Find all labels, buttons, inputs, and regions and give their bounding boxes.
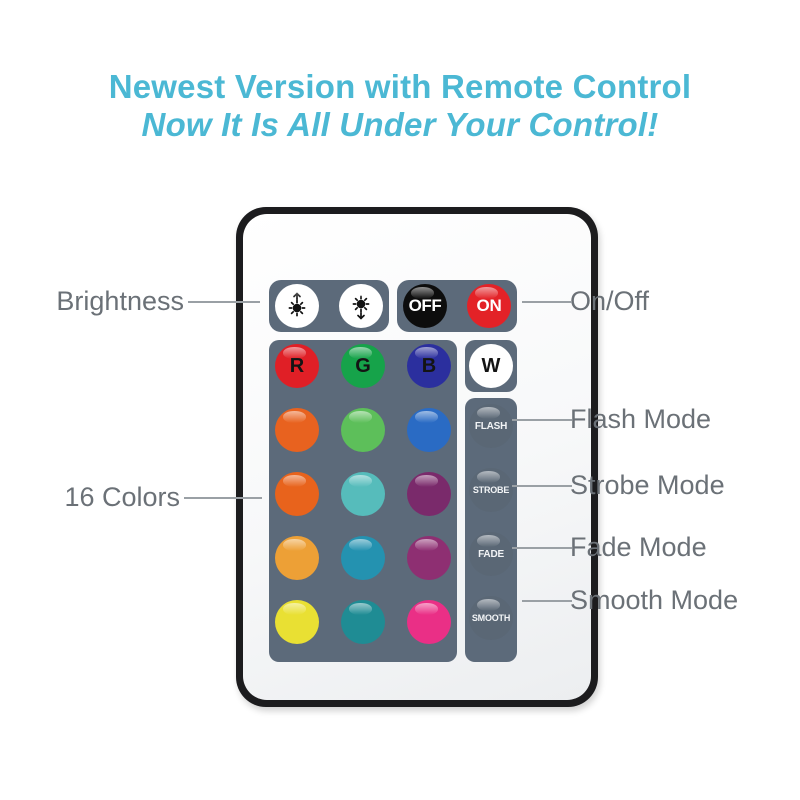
remote-face: OFF ON R G B W FLASH S — [243, 214, 591, 700]
color-button-orange[interactable] — [275, 472, 319, 516]
color-button-orange-red[interactable] — [275, 408, 319, 452]
strobe-mode-button[interactable]: STROBE — [469, 468, 513, 512]
power-panel: OFF ON — [397, 280, 517, 332]
flash-mode-button[interactable]: FLASH — [469, 404, 513, 448]
leader-line-colors — [184, 497, 262, 499]
leader-line-strobe — [512, 485, 572, 487]
leader-line-brightness — [188, 301, 260, 303]
on-button[interactable]: ON — [467, 284, 511, 328]
color-button-light-green[interactable] — [341, 408, 385, 452]
sun-up-icon — [284, 291, 310, 321]
headline: Newest Version with Remote Control Now I… — [0, 68, 800, 144]
color-button-blue[interactable]: B — [407, 344, 451, 388]
callout-on-off: On/Off — [570, 286, 649, 316]
color-button-purple[interactable] — [407, 472, 451, 516]
color-button-medium-blue[interactable] — [407, 408, 451, 452]
color-button-aqua[interactable] — [341, 472, 385, 516]
color-button-teal[interactable] — [341, 600, 385, 644]
color-button-amber[interactable] — [275, 536, 319, 580]
remote-control: OFF ON R G B W FLASH S — [236, 207, 598, 707]
callout-brightness: Brightness — [24, 286, 184, 316]
brightness-down-button[interactable] — [339, 284, 383, 328]
fade-mode-button[interactable]: FADE — [469, 532, 513, 576]
callout-strobe-mode: Strobe Mode — [570, 470, 725, 500]
callout-flash-mode: Flash Mode — [570, 404, 711, 434]
headline-line-2: Now It Is All Under Your Control! — [0, 106, 800, 144]
callout-fade-mode: Fade Mode — [570, 532, 707, 562]
callout-16-colors: 16 Colors — [20, 482, 180, 512]
leader-line-flash — [512, 419, 572, 421]
sun-down-icon — [348, 291, 374, 321]
color-buttons-panel: R G B — [269, 340, 457, 662]
color-button-cyan-blue[interactable] — [341, 536, 385, 580]
color-button-pink[interactable] — [407, 600, 451, 644]
leader-line-on-off — [522, 301, 572, 303]
white-button-panel: W — [465, 340, 517, 392]
leader-line-smooth — [522, 600, 572, 602]
mode-buttons-panel: FLASH STROBE FADE SMOOTH — [465, 398, 517, 662]
brightness-up-button[interactable] — [275, 284, 319, 328]
off-button[interactable]: OFF — [403, 284, 447, 328]
brightness-panel — [269, 280, 389, 332]
callout-smooth-mode: Smooth Mode — [570, 585, 738, 615]
color-button-red[interactable]: R — [275, 344, 319, 388]
color-button-green[interactable]: G — [341, 344, 385, 388]
color-button-magenta-purple[interactable] — [407, 536, 451, 580]
smooth-mode-button[interactable]: SMOOTH — [469, 596, 513, 640]
color-button-yellow[interactable] — [275, 600, 319, 644]
leader-line-fade — [512, 547, 572, 549]
color-button-white[interactable]: W — [469, 344, 513, 388]
headline-line-1: Newest Version with Remote Control — [0, 68, 800, 106]
